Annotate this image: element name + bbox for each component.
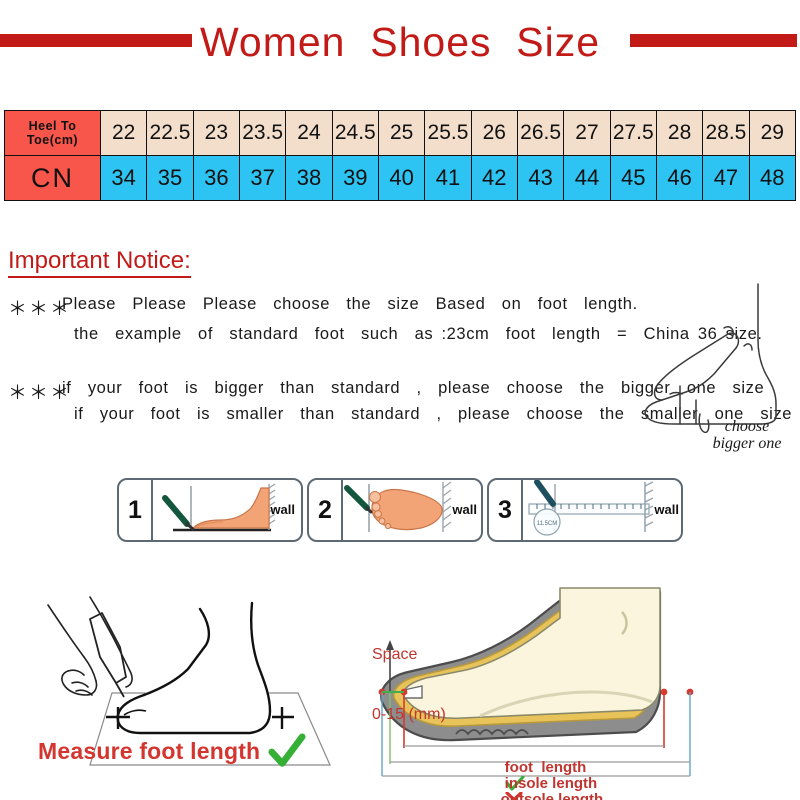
cm-cell: 23 [193,111,239,156]
wall-label: wall [270,502,295,517]
cn-cell: 39 [332,156,378,201]
cm-cell: 27 [564,111,610,156]
caption-line-1: choose [692,418,800,435]
green-check-icon [268,733,306,771]
cn-cell: 40 [378,156,424,201]
size-table: Heel To Toe(cm) 22 22.5 23 23.5 24 24.5 … [4,110,796,201]
step-panel-2: 2 [307,478,483,542]
step-panel-3: 3 [487,478,683,542]
cm-cell: 27.5 [610,111,656,156]
space-label-line-2: 0-15 (mm) [372,705,446,725]
step-3-illustration: 11.5CM wall [523,480,681,540]
cm-cell: 23.5 [239,111,285,156]
cm-cell: 24.5 [332,111,378,156]
cn-cell: 42 [471,156,517,201]
cm-cell: 24 [286,111,332,156]
cm-cell: 29 [749,111,795,156]
row-header-cn: CN [5,156,101,201]
outsole-length-text: outsole length [501,791,604,800]
shoe-size-chart-page: Women Shoes Size Heel To Toe(cm) 22 22.5… [0,0,800,800]
cn-cell: 41 [425,156,471,201]
measure-foot-length-label: Measure foot length [38,738,260,765]
space-label-line-1: Space [372,645,446,665]
cm-cell: 22.5 [147,111,193,156]
cm-cell: 25 [378,111,424,156]
step-panel-1: 1 wall [117,478,303,542]
cm-cell: 22 [101,111,147,156]
cn-cell: 46 [656,156,702,201]
cm-cell: 26.5 [517,111,563,156]
cn-cell: 43 [517,156,563,201]
table-row-cm: Heel To Toe(cm) 22 22.5 23 23.5 24 24.5 … [5,111,796,156]
cm-cell: 28.5 [703,111,749,156]
table-row-cn: CN 34 35 36 37 38 39 40 41 42 43 44 45 4… [5,156,796,201]
cn-cell: 35 [147,156,193,201]
step-2-illustration: wall [343,480,481,540]
cn-cell: 36 [193,156,239,201]
space-label: Space 0-15 (mm) [372,605,446,765]
page-title: Women Shoes Size [0,18,800,66]
magnifier-reading: 11.5CM [537,521,558,527]
cm-cell: 25.5 [425,111,471,156]
cn-cell: 34 [101,156,147,201]
step-number: 3 [489,480,523,540]
caption-line-2: bigger one [692,435,800,452]
cm-cell: 26 [471,111,517,156]
notice-line: Please Please Please choose the size Bas… [62,295,638,314]
measurement-steps: 1 wall [117,478,683,544]
wall-label: wall [654,502,679,517]
title-bar: Women Shoes Size [0,18,800,66]
cm-cell: 28 [656,111,702,156]
cn-cell: 44 [564,156,610,201]
step-1-illustration: wall [153,480,301,540]
cn-cell: 45 [610,156,656,201]
step-number: 2 [309,480,343,540]
choose-bigger-one-caption: choose bigger one [692,418,800,452]
cn-cell: 37 [239,156,285,201]
cn-cell: 47 [703,156,749,201]
outsole-length-label: outsole length [484,774,603,800]
cn-cell: 48 [749,156,795,201]
step-number: 1 [119,480,153,540]
important-notice-heading: Important Notice: [8,248,191,278]
cn-cell: 38 [286,156,332,201]
wall-label: wall [452,502,477,517]
row-header-heel-to-toe: Heel To Toe(cm) [5,111,101,156]
